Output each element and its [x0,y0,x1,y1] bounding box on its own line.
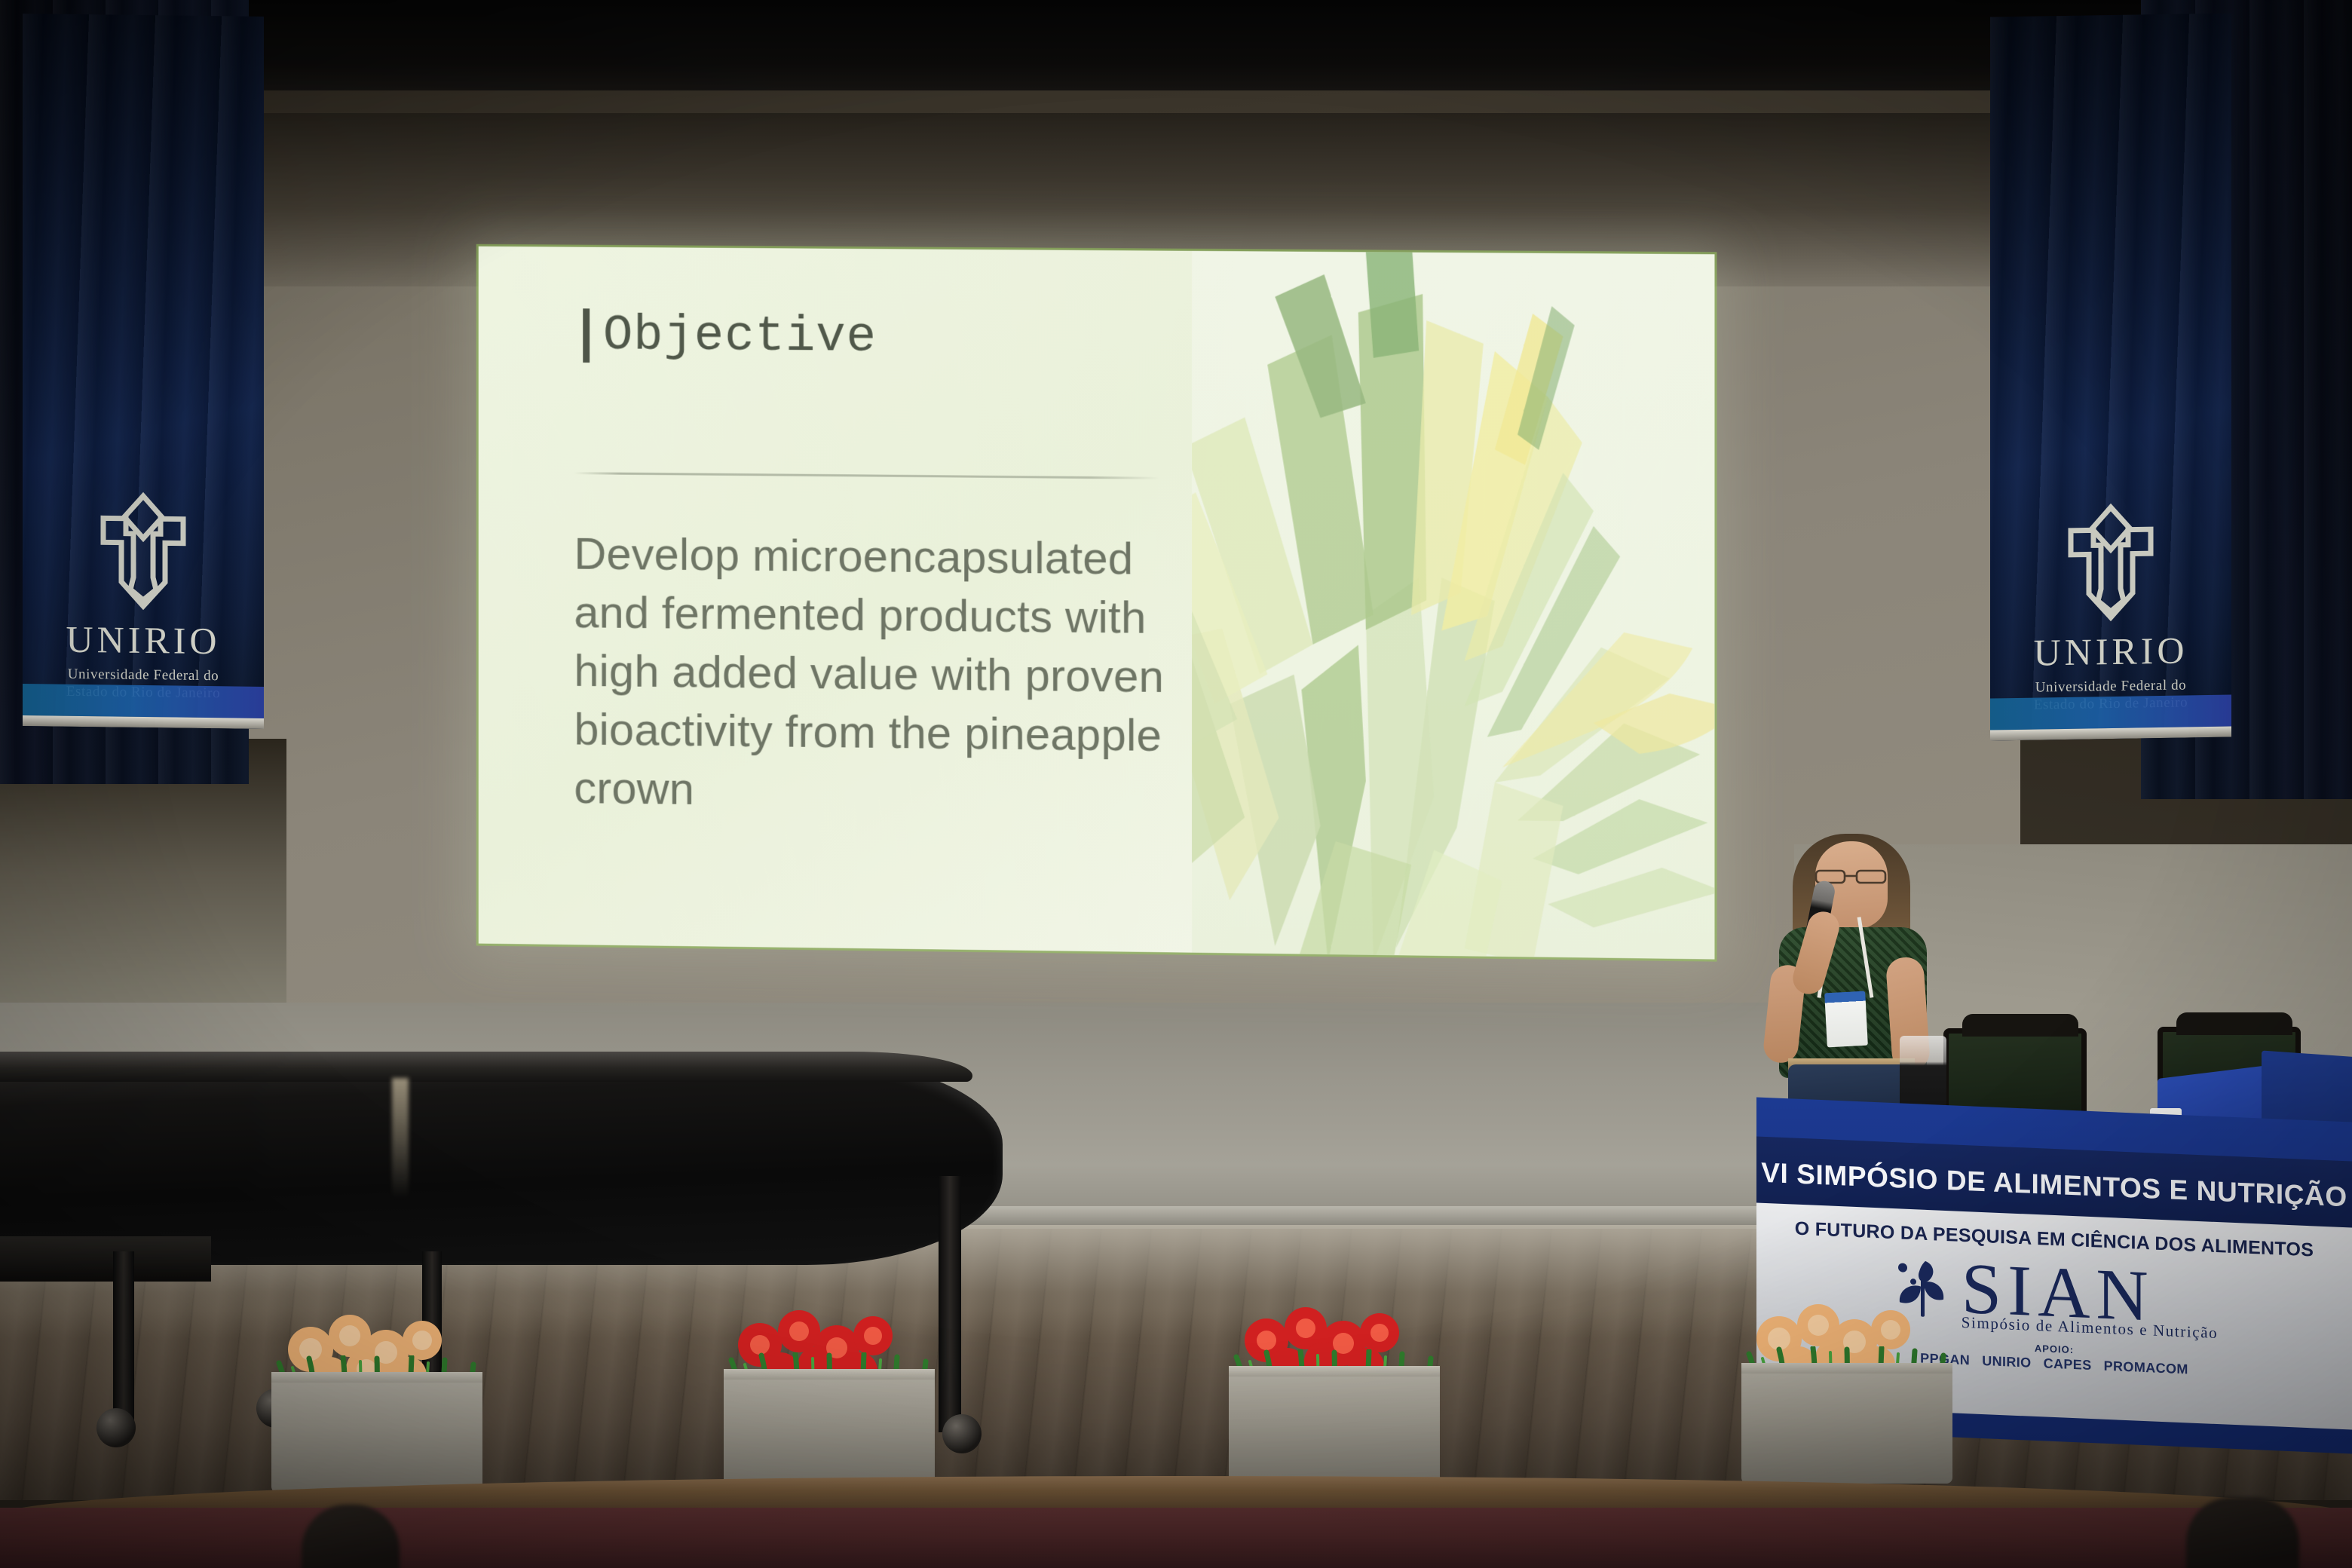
event-title: VI SIMPÓSIO DE ALIMENTOS E NUTRIÇÃO [1761,1157,2347,1214]
banner-left-subtitle-l1: Universidade Federal do [68,666,219,683]
banner-left-name: UNIRIO [66,620,221,660]
slide-title: Objective [603,311,877,362]
slide-divider-line [574,472,1159,479]
grand-piano-lid [0,1052,972,1082]
piano-caster [942,1414,982,1453]
audience-head [2186,1497,2299,1568]
planter-box [1229,1366,1440,1487]
sponsor-unirio: UNIRIO [1982,1353,2031,1371]
unirio-logo-icon [87,486,200,616]
pineapple-crown-icon [1192,251,1714,960]
sponsor-capes: CAPES [2044,1356,2092,1374]
planter-box [271,1372,482,1493]
slide-text-column: Objective Develop microencapsulated and … [479,247,1193,953]
piano-leg [113,1251,134,1425]
sponsor-promacom: PROMACOM [2104,1358,2188,1378]
unirio-logo-icon [2054,497,2167,626]
left-lower-wall [0,739,286,1040]
planter-box [1741,1363,1952,1484]
piano-caster [96,1408,136,1447]
planter-box [724,1369,935,1490]
sponsor-label: APOIO: [2035,1343,2074,1355]
unirio-banner-right: UNIRIO Universidade Federal do Estado do… [1990,13,2231,740]
banner-right-name: UNIRIO [2034,631,2188,671]
slide-body-text: Develop microencapsulated and fermented … [574,525,1167,824]
banner-left-stripe [23,684,264,718]
banner-right-subtitle-l1: Universidade Federal do [2035,677,2187,695]
auditorium-photo: UNIRIO Universidade Federal do Estado do… [0,0,2352,1568]
piano-highlight [392,1078,409,1199]
slide-illustration-column [1192,251,1714,960]
slide-title-group: Objective [583,308,877,365]
banner-right-stripe [1990,694,2231,730]
grand-piano-body [0,1054,1003,1265]
projected-slide: Objective Develop microencapsulated and … [479,247,1715,960]
conference-badge [1824,991,1868,1048]
title-accent-bar [583,308,590,363]
unirio-banner-left: UNIRIO Universidade Federal do Estado do… [23,14,264,729]
piano-keybed [0,1236,211,1282]
